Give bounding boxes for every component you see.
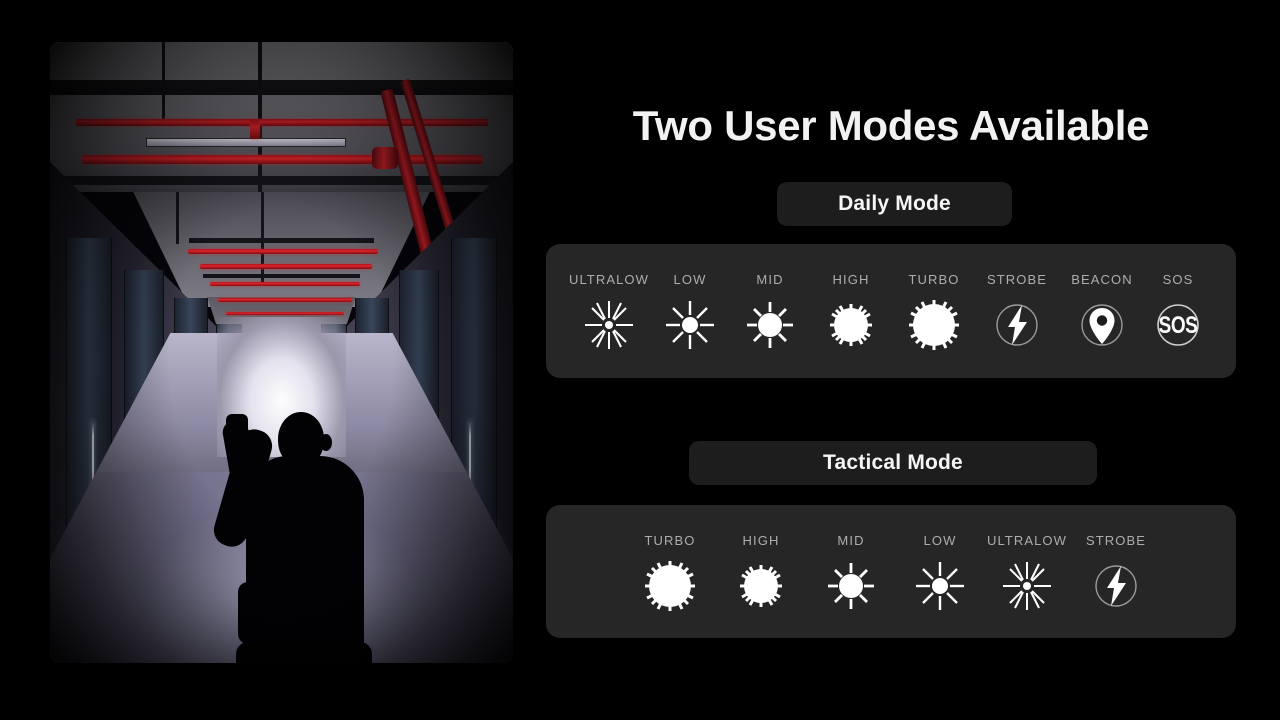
daily-mode-panel: ULTRALOW LOW: [546, 244, 1236, 378]
mode-label: SOS: [1123, 272, 1233, 287]
tactical-mode-panel: TURBO HIG: [546, 505, 1236, 638]
photo-vignette: [50, 42, 513, 663]
lightning-bolt-icon: [1061, 560, 1171, 612]
page-root: Two User Modes Available Daily Mode ULTR…: [0, 0, 1280, 720]
svg-text:SOS: SOS: [1159, 312, 1198, 339]
photo-inner: [50, 42, 513, 663]
mode-item-sos[interactable]: SOS SOS: [1123, 272, 1233, 351]
daily-mode-button[interactable]: Daily Mode: [777, 182, 1012, 226]
tactical-mode-button[interactable]: Tactical Mode: [689, 441, 1097, 485]
corridor-flashlight-photo: [50, 42, 513, 663]
mode-item-strobe[interactable]: STROBE: [1061, 533, 1171, 612]
mode-label: STROBE: [1061, 533, 1171, 548]
page-title: Two User Modes Available: [546, 102, 1236, 150]
sos-icon: SOS: [1123, 299, 1233, 351]
